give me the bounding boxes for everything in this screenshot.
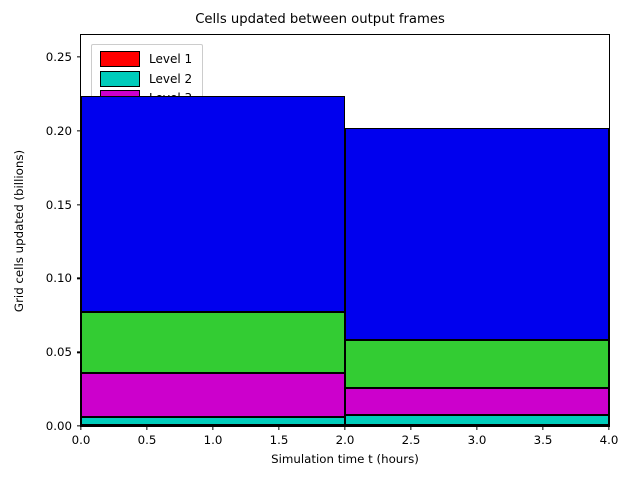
legend-item[interactable]: Level 1 [100, 51, 192, 67]
x-tick-mark [146, 426, 147, 430]
y-tick-label: 0.10 [46, 271, 81, 285]
bar-segment-level-3[interactable] [345, 388, 609, 414]
y-tick-label: 0.25 [46, 50, 81, 64]
y-tick-label: 0.20 [46, 124, 81, 138]
bar-segment-level-4[interactable] [81, 312, 345, 373]
x-tick-mark [608, 426, 609, 430]
bar-segment-level-5[interactable] [81, 96, 345, 312]
bar-segment-level-4[interactable] [345, 340, 609, 389]
bar-segment-level-5[interactable] [345, 128, 609, 339]
x-tick-mark [476, 426, 477, 430]
x-tick-mark [344, 426, 345, 430]
bar-group[interactable] [345, 35, 609, 426]
x-tick-mark [80, 426, 81, 430]
x-axis-label: Simulation time t (hours) [271, 452, 419, 466]
x-tick-mark [542, 426, 543, 430]
legend-item[interactable]: Level 2 [100, 71, 192, 87]
plot-area: Grid cells updated (billions) Simulation… [80, 34, 610, 427]
bar-segment-level-1[interactable] [345, 424, 609, 426]
bar-segment-level-3[interactable] [81, 373, 345, 417]
y-tick-label: 0.15 [46, 198, 81, 212]
bar-segment-level-1[interactable] [81, 424, 345, 426]
y-axis-label: Grid cells updated (billions) [12, 149, 26, 311]
x-tick-mark [410, 426, 411, 430]
chart-figure: Cells updated between output frames Grid… [0, 0, 640, 480]
legend-swatch-icon [100, 51, 140, 67]
chart-title: Cells updated between output frames [0, 12, 640, 27]
x-tick-mark [278, 426, 279, 430]
legend-label: Level 2 [149, 73, 192, 85]
legend-swatch-icon [100, 71, 140, 87]
y-tick-label: 0.05 [46, 345, 81, 359]
x-tick-mark [212, 426, 213, 430]
legend-label: Level 1 [149, 53, 192, 65]
